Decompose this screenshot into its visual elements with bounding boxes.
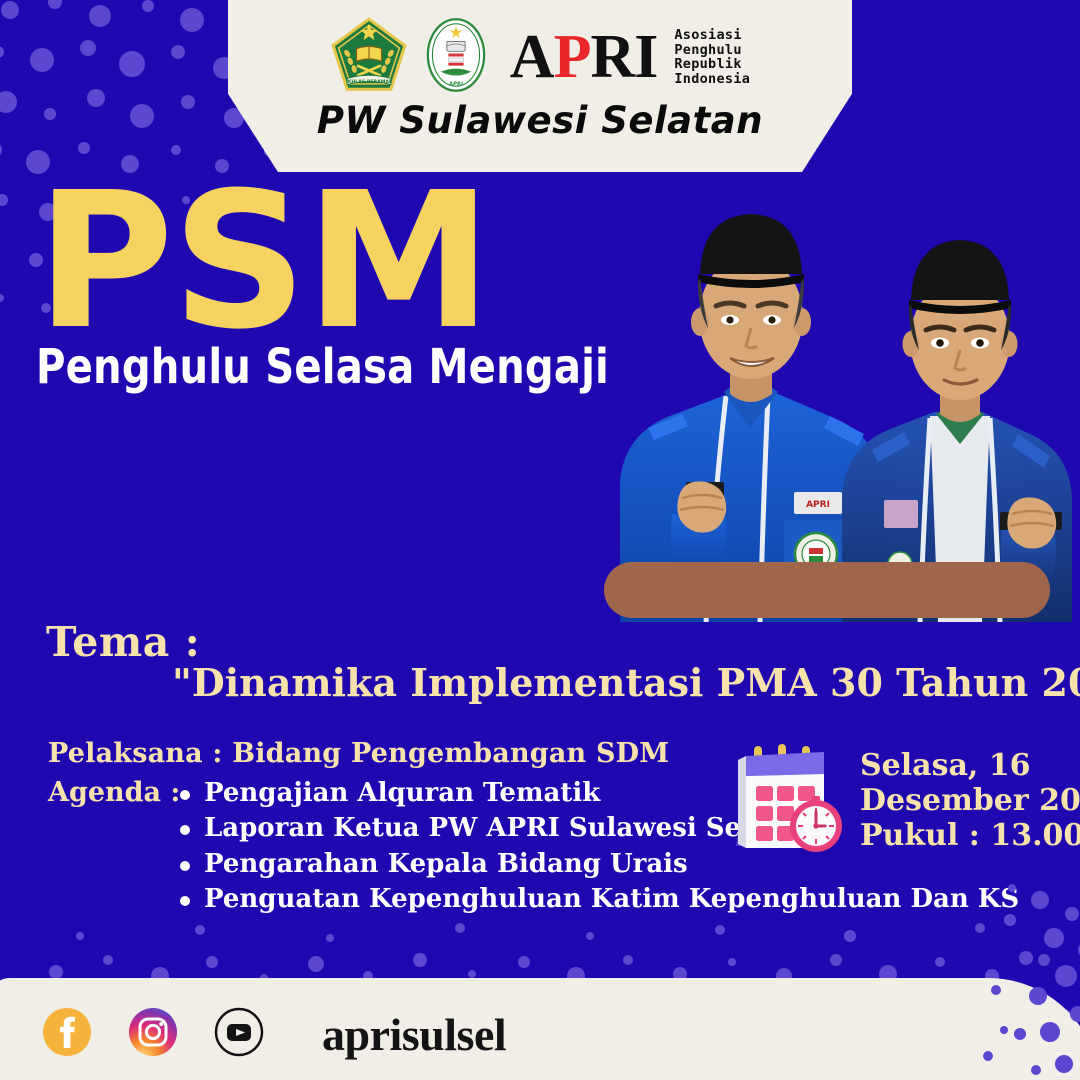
speakers-photo: APRI [578, 182, 1080, 622]
schedule-line-3: Pukul : 13.00 [860, 818, 1080, 853]
instagram-icon[interactable] [128, 1007, 178, 1062]
svg-text:APRI: APRI [806, 500, 830, 510]
apri-letter-p: P [554, 31, 591, 84]
header-banner: IKHLAS BERAMAL APRI [228, 0, 852, 172]
page-title: PSM [36, 176, 652, 349]
schedule-text: Selasa, 16 Desember 2025 Pukul : 13.00 [860, 748, 1080, 853]
tema-value: "Dinamika Implementasi PMA 30 Tahun 2024… [172, 660, 1080, 705]
apri-letters-ri: RI [590, 31, 657, 84]
kemenag-logo-icon: IKHLAS BERAMAL [330, 16, 408, 99]
apri-wordmark: APRI [510, 31, 658, 84]
apri-seal-icon: APRI [418, 17, 494, 98]
agenda-label: Agenda : [48, 776, 166, 808]
calendar-clock-icon [718, 734, 846, 867]
tema-label: Tema : [46, 618, 200, 666]
svg-text:IKHLAS BERAMAL: IKHLAS BERAMAL [346, 79, 392, 85]
youtube-icon[interactable] [214, 1007, 264, 1062]
apri-subtitle-line-2: Penghulu [674, 43, 750, 58]
title-block: PSM Penghulu Selasa Mengaji [36, 176, 652, 391]
page-subtitle: Penghulu Selasa Mengaji [36, 343, 609, 391]
poster-canvas: IKHLAS BERAMAL APRI [0, 0, 1080, 1080]
apri-subtitle-line-3: Republik [674, 57, 750, 72]
schedule-block: Selasa, 16 Desember 2025 Pukul : 13.00 [718, 734, 1080, 867]
apri-letter-a: A [510, 31, 554, 84]
footer-bar: aprisulsel [0, 978, 1080, 1080]
region-label: PW Sulawesi Selatan [317, 99, 763, 142]
facebook-icon[interactable] [42, 1007, 92, 1062]
list-item: Penguatan Kepenghuluan Katim Kepenghulua… [176, 882, 1019, 917]
schedule-line-2: Desember 2025 [860, 783, 1080, 818]
apri-subtitle-line-1: Asosiasi [674, 28, 750, 43]
social-handle: aprisulsel [322, 1008, 506, 1061]
apri-subtitle: Asosiasi Penghulu Republik Indonesia [674, 28, 750, 86]
logo-row: IKHLAS BERAMAL APRI [330, 16, 750, 98]
podium-bar [604, 562, 1050, 618]
apri-subtitle-line-4: Indonesia [674, 72, 750, 87]
schedule-line-1: Selasa, 16 [860, 748, 1080, 783]
svg-text:APRI: APRI [449, 81, 463, 87]
